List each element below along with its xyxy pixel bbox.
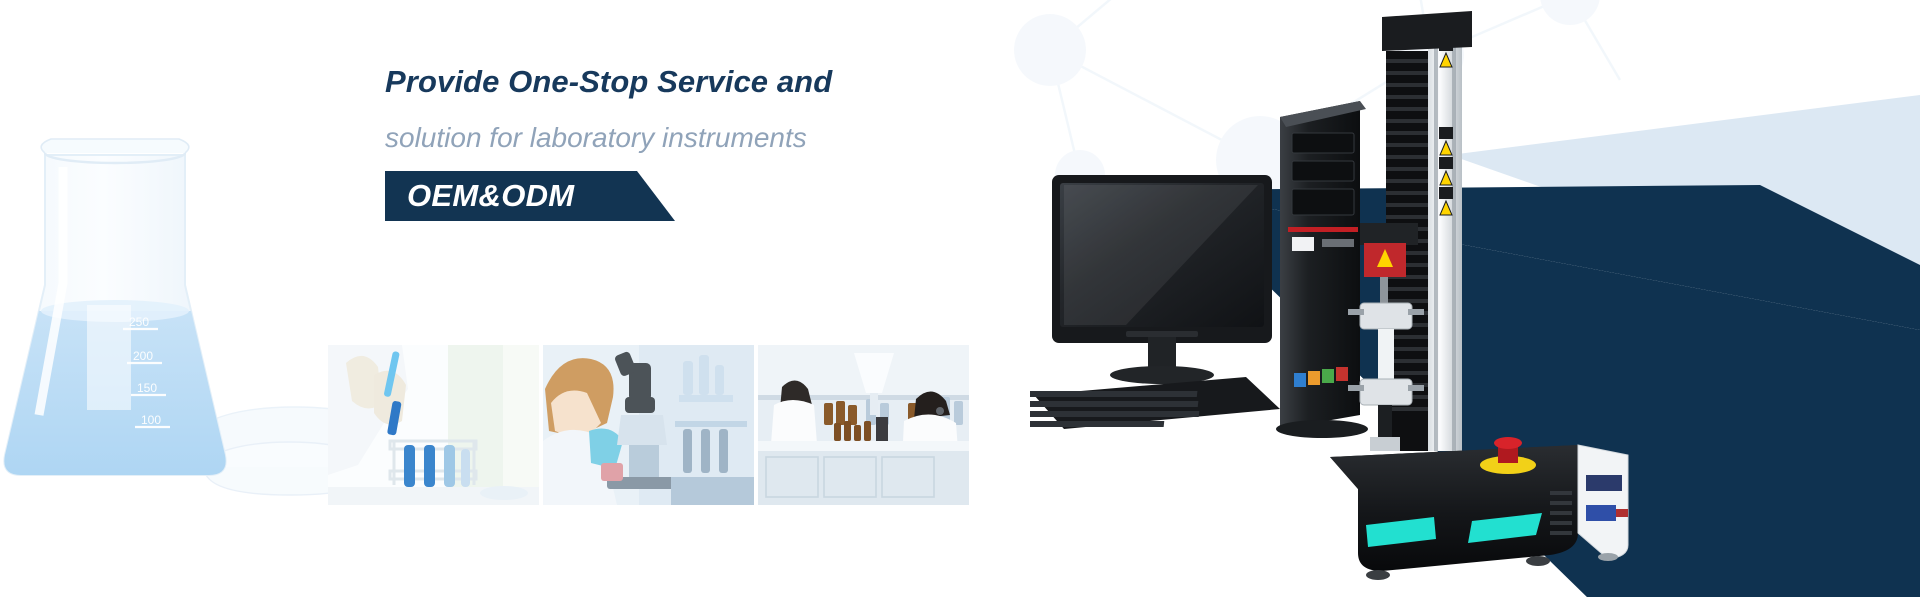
desktop-monitor [1052, 175, 1272, 384]
headline-line2: solution for laboratory instruments [385, 120, 1085, 155]
hero-banner: 250 200 150 100 Provide One-Stop Service… [0, 0, 1920, 597]
svg-text:250: 250 [129, 315, 149, 329]
headline-block: Provide One-Stop Service and solution fo… [385, 62, 1085, 221]
lab-photo-microscope [543, 345, 754, 505]
keyboard [1030, 377, 1280, 429]
warning-label-icon [1439, 39, 1453, 215]
oem-odm-tag: OEM&ODM [385, 171, 675, 221]
lab-photo-strip [328, 345, 969, 505]
universal-testing-machine [1330, 11, 1628, 580]
lab-photo-lab-bench [758, 345, 969, 505]
svg-text:150: 150 [137, 381, 157, 395]
equipment-illustration [1030, 5, 1650, 585]
svg-text:200: 200 [133, 349, 153, 363]
flask-body: 250 200 150 100 [0, 139, 235, 511]
lab-photo-pipetting [328, 345, 539, 505]
svg-text:100: 100 [141, 413, 161, 427]
oem-odm-label: OEM&ODM [407, 178, 574, 214]
headline-line1: Provide One-Stop Service and [385, 62, 1085, 102]
